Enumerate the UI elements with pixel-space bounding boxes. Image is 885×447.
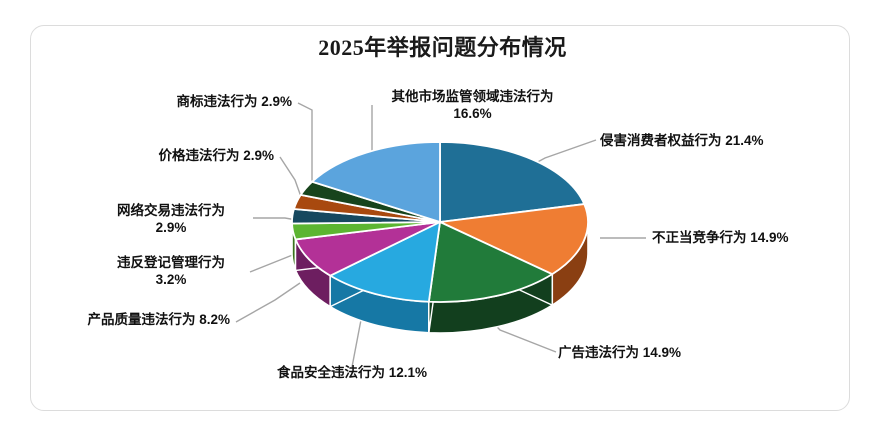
slice-label-advertising: 广告违法行为 14.9% — [558, 344, 681, 361]
slice-label-other: 其他市场监管领域违法行为 16.6% — [340, 88, 605, 122]
slice-label-product-quality: 产品质量违法行为 8.2% — [26, 311, 230, 328]
slice-label-price: 价格违法行为 2.9% — [96, 147, 274, 164]
slice-label-online-trade-value: 2.9% — [96, 219, 246, 236]
slice-label-other-line1: 其他市场监管领域违法行为 — [340, 88, 605, 105]
slice-label-consumer: 侵害消费者权益行为 21.4% — [600, 132, 764, 149]
slice-label-registration-value: 3.2% — [96, 271, 246, 288]
slice-label-online-trade: 网络交易违法行为 2.9% — [96, 202, 246, 236]
slice-label-unfair-competition: 不正当竞争行为 14.9% — [652, 229, 789, 246]
slice-label-online-trade-line1: 网络交易违法行为 — [96, 202, 246, 219]
slice-label-registration: 违反登记管理行为 3.2% — [96, 254, 246, 288]
slice-label-registration-line1: 违反登记管理行为 — [96, 254, 246, 271]
slice-label-trademark: 商标违法行为 2.9% — [116, 93, 292, 110]
slice-label-other-value: 16.6% — [340, 105, 605, 122]
slice-label-food-safety: 食品安全违法行为 12.1% — [252, 364, 452, 381]
page-title: 2025年举报问题分布情况 — [0, 30, 885, 62]
